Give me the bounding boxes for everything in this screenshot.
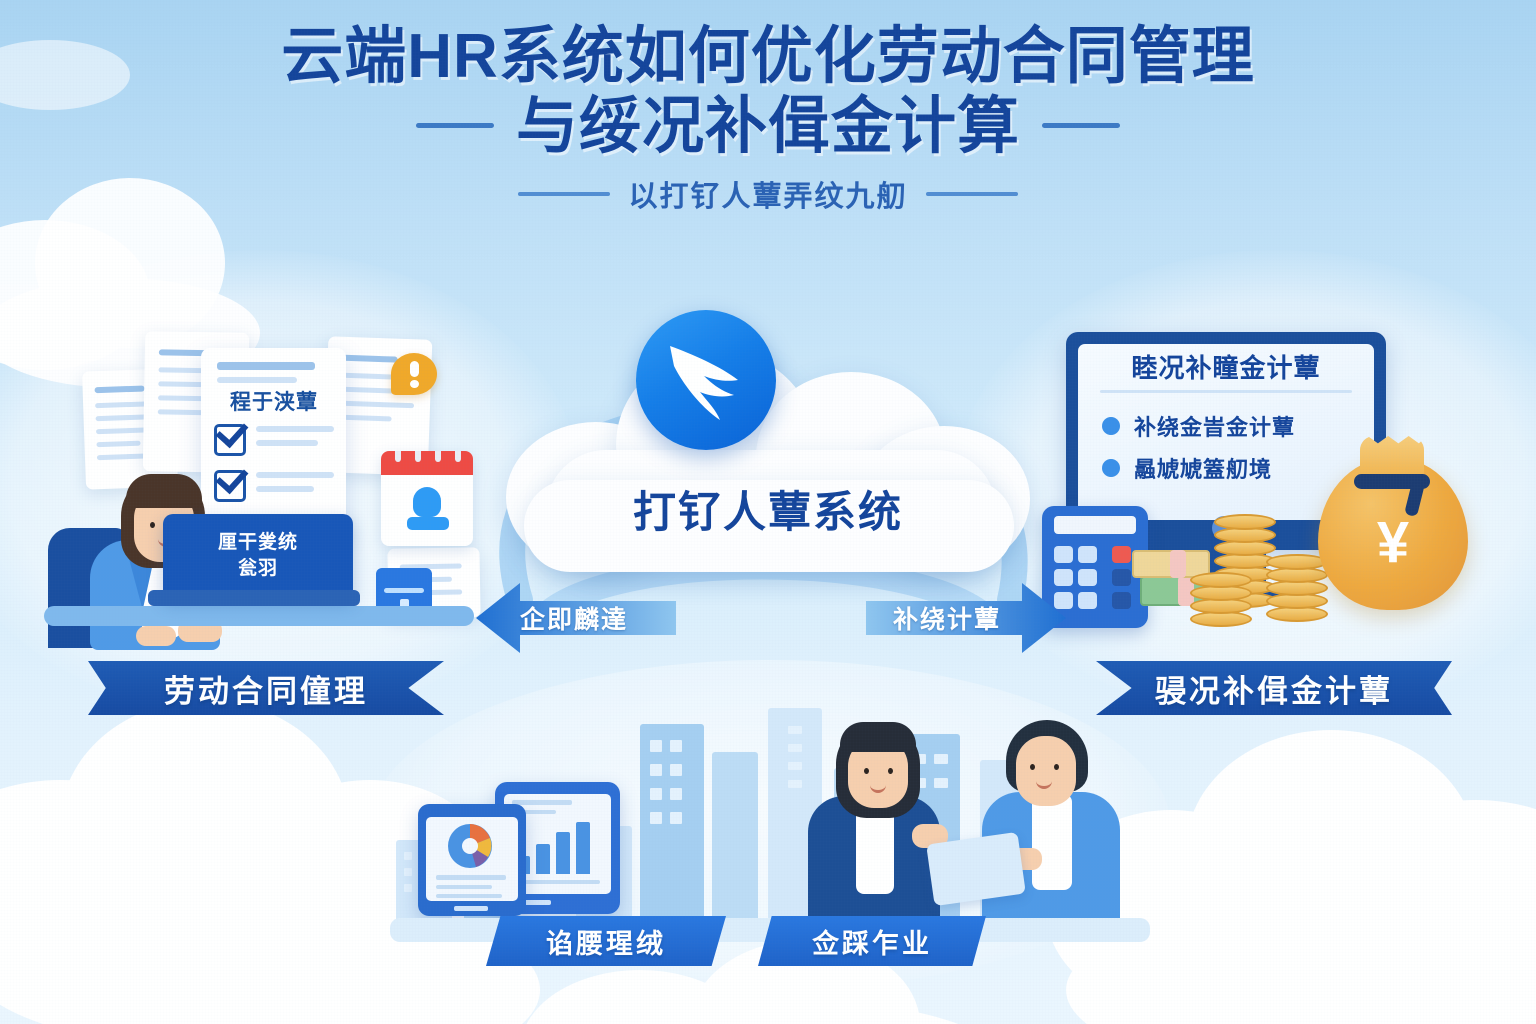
two-professionals [790,718,1140,923]
bullet-label: 曧虓虓篕舠境 [1134,452,1272,484]
laptop-base [148,590,360,606]
page-subtitle: 以打钌人蕈弄纹九舠 [628,173,907,215]
page-title-line2: 与绥况补偮金计算 [516,92,1020,161]
subtitle-row: 以打钌人蕈弄纹九舠 [0,173,1536,215]
title-rule-left [416,123,494,128]
infographic-canvas: 云端HR系统如何优化劳动合同管理 与绥况补偮金计算 以打钌人蕈弄纹九舠 打钌人蕈… [0,0,1536,1024]
subtitle-rule-right [926,192,1018,196]
bullet-label: 补绕金旹金计蕈 [1134,410,1295,442]
screen-divider [1100,390,1352,393]
yen-symbol: ¥ [1358,514,1428,572]
building [640,724,704,922]
screen-bullet-item: 补绕金旹金计蕈 [1102,410,1295,442]
right-banner-label: 骎况补偮金计蕈 [1155,666,1393,711]
left-banner-label: 劳动合同僮理 [164,666,368,711]
bullet-dot-icon [1102,417,1120,435]
page-title-line2-row: 与绥况补偮金计算 [0,90,1536,161]
title-block: 云端HR系统如何优化劳动合同管理 与绥况补偮金计算 以打钌人蕈弄纹九舠 [0,24,1536,215]
screen-bullet-item: 曧虓虓篕舠境 [1102,452,1272,484]
subtitle-rule-left [518,192,610,196]
desk-surface [44,606,474,626]
laptop-screen-text: 厘干夎统 瓮羽 [163,530,353,581]
left-arrow-label: 企即麟達 [520,600,628,636]
woman-hair-front [840,722,916,752]
bottom-tag-right: 佥踩乍业 [758,916,986,966]
contract-management-illustration: 程于浃蕈 [36,318,506,678]
checklist-card-title: 程于浃蕈 [204,386,344,416]
bullet-dot-icon [1102,459,1120,477]
right-arrow-label: 补绕计蕈 [893,600,1001,636]
screen-title: 睦况补瞳金计蕈 [1078,348,1374,385]
center-cloud-label: 打钌人蕈系统 [506,478,1030,540]
title-rule-right [1042,123,1120,128]
severance-calculation-illustration: 睦况补瞳金计蕈 补绕金旹金计蕈 曧虓虓篕舠境 [1028,318,1506,678]
pie-chart-icon [440,821,504,871]
cash-band [1170,550,1186,578]
shared-tablet [926,832,1026,906]
right-banner: 骎况补偮金计蕈 [1096,661,1452,715]
bottom-tag-right-label: 佥踩乍业 [812,922,932,961]
left-banner: 劳动合同僮理 [88,661,444,715]
man-shirt [1032,794,1072,890]
calendar-person-icon [381,451,473,546]
dingtalk-wing-logo-icon [636,310,776,450]
bottom-tag-left: 谄腰瑆绒 [486,916,726,966]
man-face [1016,736,1076,806]
page-title-line1: 云端HR系统如何优化劳动合同管理 [0,24,1536,90]
bottom-tag-left-label: 谄腰瑆绒 [546,922,666,961]
lightbulb-badge-icon [391,353,437,395]
tablet-chart-pie [418,804,526,916]
building [712,752,758,922]
